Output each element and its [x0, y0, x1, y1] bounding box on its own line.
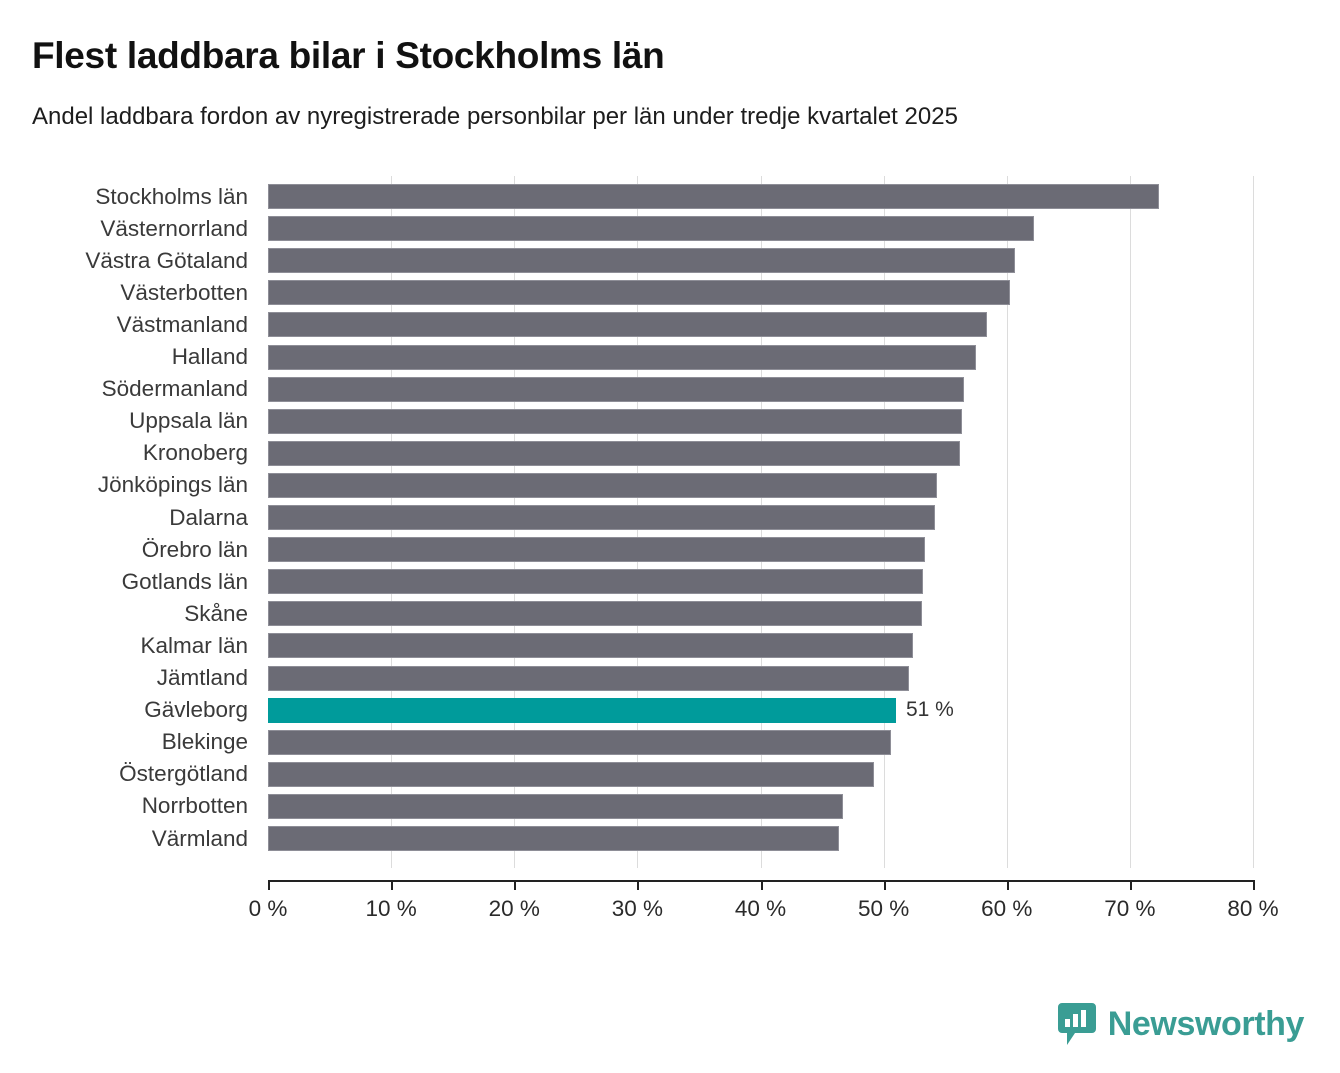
- bar[interactable]: [268, 312, 987, 337]
- x-axis-tick-label: 0 %: [249, 896, 288, 922]
- x-axis-tick-label: 70 %: [1104, 896, 1155, 922]
- y-axis-tick-label: Stockholms län: [0, 186, 256, 209]
- y-axis-tick-label: Kalmar län: [0, 635, 256, 658]
- gridline: [1253, 176, 1254, 868]
- y-axis-label-group: Stockholms länVästernorrlandVästra Götal…: [0, 176, 256, 868]
- bar-row[interactable]: [268, 473, 1253, 498]
- bar[interactable]: [268, 473, 937, 498]
- bar-row[interactable]: [268, 569, 1253, 594]
- bar[interactable]: [268, 601, 922, 626]
- y-axis-tick-label: Skåne: [0, 603, 256, 626]
- x-axis-tick-label: 20 %: [489, 896, 540, 922]
- newsworthy-logo: Newsworthy: [1058, 1003, 1304, 1045]
- bar-row[interactable]: 51 %: [268, 698, 1253, 723]
- bar-row[interactable]: [268, 441, 1253, 466]
- x-axis-tick-label: 10 %: [365, 896, 416, 922]
- chart-header: Flest laddbara bilar i Stockholms län An…: [0, 0, 1340, 130]
- bar[interactable]: [268, 280, 1010, 305]
- bar[interactable]: [268, 409, 962, 434]
- y-axis-tick-label: Jämtland: [0, 667, 256, 690]
- y-axis-tick-label: Värmland: [0, 828, 256, 851]
- y-axis-tick-label: Örebro län: [0, 539, 256, 562]
- y-axis-tick-label: Halland: [0, 346, 256, 369]
- bar-highlighted[interactable]: [268, 698, 896, 723]
- x-axis-tick-label: 60 %: [981, 896, 1032, 922]
- bar[interactable]: [268, 345, 976, 370]
- bar-chart-speech-bubble-icon: [1058, 1003, 1096, 1045]
- y-axis-tick-label: Gotlands län: [0, 571, 256, 594]
- bar-row[interactable]: [268, 666, 1253, 691]
- bar[interactable]: [268, 826, 839, 851]
- bar[interactable]: [268, 248, 1015, 273]
- bar-row[interactable]: [268, 505, 1253, 530]
- x-axis-tick-label: 50 %: [858, 896, 909, 922]
- x-axis-tick: [761, 880, 763, 890]
- bar[interactable]: [268, 794, 843, 819]
- bar-row[interactable]: [268, 826, 1253, 851]
- x-axis-tick: [1130, 880, 1132, 890]
- bar-row[interactable]: [268, 794, 1253, 819]
- bar-row[interactable]: [268, 312, 1253, 337]
- y-axis-tick-label: Kronoberg: [0, 442, 256, 465]
- bar-value-label: 51 %: [896, 698, 954, 722]
- bar-row[interactable]: [268, 537, 1253, 562]
- y-axis-tick-label: Uppsala län: [0, 410, 256, 433]
- y-axis-tick-label: Norrbotten: [0, 795, 256, 818]
- y-axis-tick-label: Södermanland: [0, 378, 256, 401]
- bar-row[interactable]: [268, 730, 1253, 755]
- bar-row[interactable]: [268, 762, 1253, 787]
- bar-row[interactable]: [268, 280, 1253, 305]
- x-axis-tick: [391, 880, 393, 890]
- chart-container: Stockholms länVästernorrlandVästra Götal…: [0, 176, 1340, 936]
- y-axis-tick-label: Dalarna: [0, 507, 256, 530]
- bar[interactable]: [268, 184, 1159, 209]
- bar[interactable]: [268, 633, 913, 658]
- bar[interactable]: [268, 666, 909, 691]
- brand-name: Newsworthy: [1108, 1007, 1304, 1041]
- bar-row[interactable]: [268, 345, 1253, 370]
- x-axis-tick-label: 80 %: [1227, 896, 1278, 922]
- page-title: Flest laddbara bilar i Stockholms län: [32, 36, 1310, 77]
- bar-row[interactable]: [268, 248, 1253, 273]
- x-axis-tick: [1253, 880, 1255, 890]
- y-axis-tick-label: Västernorrland: [0, 218, 256, 241]
- bar[interactable]: [268, 441, 960, 466]
- bar-row[interactable]: [268, 601, 1253, 626]
- bar-row[interactable]: [268, 377, 1253, 402]
- x-axis-tick: [514, 880, 516, 890]
- y-axis-tick-label: Västra Götaland: [0, 250, 256, 273]
- bar[interactable]: [268, 730, 891, 755]
- bar[interactable]: [268, 216, 1034, 241]
- bar-row[interactable]: [268, 633, 1253, 658]
- y-axis-tick-label: Gävleborg: [0, 699, 256, 722]
- bar[interactable]: [268, 569, 923, 594]
- x-axis-tick-label: 40 %: [735, 896, 786, 922]
- y-axis-tick-label: Västerbotten: [0, 282, 256, 305]
- plot-area: 51 %: [268, 176, 1253, 868]
- bar-row[interactable]: [268, 184, 1253, 209]
- x-axis-tick-label: 30 %: [612, 896, 663, 922]
- bar[interactable]: [268, 377, 964, 402]
- bar[interactable]: [268, 537, 925, 562]
- y-axis-tick-label: Västmanland: [0, 314, 256, 337]
- bar-row[interactable]: [268, 216, 1253, 241]
- x-axis-tick: [1007, 880, 1009, 890]
- x-axis: 0 %10 %20 %30 %40 %50 %60 %70 %80 %: [268, 880, 1253, 940]
- y-axis-tick-label: Jönköpings län: [0, 474, 256, 497]
- y-axis-tick-label: Blekinge: [0, 731, 256, 754]
- bar[interactable]: [268, 762, 874, 787]
- x-axis-tick: [637, 880, 639, 890]
- chart-subtitle: Andel laddbara fordon av nyregistrerade …: [32, 103, 1310, 131]
- x-axis-tick: [268, 880, 270, 890]
- x-axis-tick: [884, 880, 886, 890]
- bar[interactable]: [268, 505, 935, 530]
- y-axis-tick-label: Östergötland: [0, 763, 256, 786]
- bar-row[interactable]: [268, 409, 1253, 434]
